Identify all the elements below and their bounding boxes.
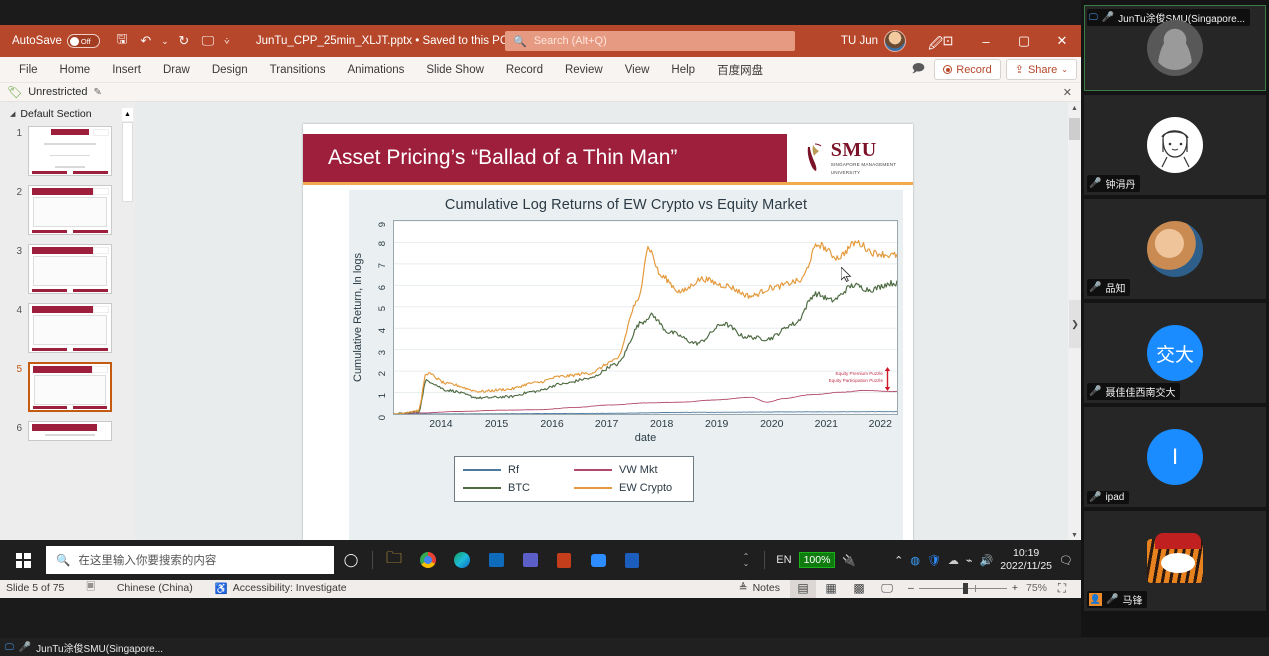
windows-security-icon[interactable]: 🛡 [927,554,941,567]
xtick-2020: 2020 [760,418,783,430]
windows-taskbar: 🔍 在这里输入你要搜索的内容 ◯ 🗀 [0,540,1081,580]
avatar [1147,221,1203,277]
share-caret-icon: ⌄ [1061,65,1068,74]
avatar: I [1147,429,1203,485]
zoom-level[interactable]: 75% [1026,582,1047,594]
legend-label-btc: BTC [508,482,530,494]
ytick-3: 3 [378,350,388,355]
list-item[interactable]: 1 [0,126,135,176]
redo-icon[interactable]: ↻ [172,29,196,53]
slide-accent-bar [303,182,913,185]
microphone-icon: 🎤 [1106,594,1118,605]
microphone-icon: 🎤 [1102,12,1114,23]
thumb-number: 5 [9,362,22,375]
qat-more-icon[interactable]: ⩒ [220,29,234,53]
chart-plot-area: Equity Premium Puzzle Equity Participati… [393,220,898,415]
tab-help[interactable]: Help [660,57,706,83]
thumb-number: 6 [9,421,22,434]
antivirus-icon[interactable]: ◍ [910,554,920,567]
accessibility-status[interactable]: ♿ Accessibility: Investigate [215,582,347,595]
volume-icon[interactable]: 🔊 [980,554,994,567]
comment-icon[interactable]: 🗩 [907,59,929,80]
record-dot-icon [943,65,952,74]
doodle-face-icon [1149,119,1201,171]
xtick-2017: 2017 [595,418,618,430]
quick-access-toolbar: 🖫 ↶ ⌄ ↻ 🖵 ⩒ [110,29,234,53]
participant-name-row: 🎤 聂佳佳西南交大 [1087,383,1180,400]
slide-thumbnail-panel: ◢ Default Section 1 [0,102,135,577]
slide-thumbnail-1[interactable] [28,126,112,176]
present-icon[interactable]: 🖵 [196,29,220,53]
taskbar-search-placeholder: 在这里输入你要搜索的内容 [78,552,216,568]
xtick-2022: 2022 [869,418,892,430]
thumb-number: 3 [9,244,22,257]
legend-swatch-btc [463,487,501,489]
sensitivity-bar: 🏷 Unrestricted ✎ ✕ [0,83,1081,102]
zoom-tick [975,585,976,592]
system-tray: ⌃⌄ EN 100% 🔌 ⌃ ◍ 🛡 ☁ ⌁ 🔊 10:19 2022/11/2… [743,547,1081,573]
smu-sub-line2: UNIVERSITY [831,170,897,176]
thumbnail-list: 1 2 [0,126,135,441]
microphone-muted-icon: 🎤 [1089,178,1101,189]
ribbon-display-options-icon[interactable]: ⊡ [929,25,967,57]
tab-transitions[interactable]: Transitions [259,57,337,83]
accessibility-icon: ♿ [215,582,228,595]
spellcheck-icon[interactable]: 🗏 [86,579,94,597]
chart-yticks: 0 1 2 3 4 5 6 7 8 9 [367,220,391,415]
share-icon: ⇪ [1015,63,1024,76]
undo-dropdown-icon[interactable]: ⌄ [158,29,172,53]
participant-name-row: 🎤 钟涓丹 [1087,175,1140,192]
thumb-number: 1 [9,126,22,139]
video-tile-participant[interactable]: 交大 🎤 聂佳佳西南交大 [1084,303,1266,403]
tab-baidu-netdisk[interactable]: 百度网盘 [706,57,774,83]
fit-slide-icon[interactable]: ⛶ [1049,579,1075,598]
tab-file[interactable]: File [8,57,49,83]
participant-name: ipad [1105,492,1124,503]
wifi-icon[interactable]: ⌁ [966,554,973,567]
battery-indicator[interactable]: 100% [799,552,836,568]
power-plug-icon[interactable]: 🔌 [842,554,856,567]
close-button[interactable]: ✕ [1043,25,1081,57]
clock-date: 2022/11/25 [1000,560,1052,573]
cortana-circle-icon[interactable]: ◯ [334,540,368,580]
ytick-9: 9 [378,222,388,227]
annotation-line1: Equity Premium Puzzle [829,371,883,378]
onedrive-icon[interactable]: ☁ [948,554,959,567]
zoom-thumb[interactable] [963,583,968,594]
participant-name: 品知 [1105,280,1125,295]
collapse-video-panel-button[interactable]: ❯ [1069,300,1081,348]
windows-start-icon[interactable] [0,540,46,580]
legend-item-ewcrypto: EW Crypto [574,482,685,494]
search-icon: 🔍 [513,35,527,48]
legend-swatch-ewcrypto [574,487,612,489]
slide-editor[interactable]: Asset Pricing’s “Ballad of a Thin Man” [303,124,913,554]
slide-thumbnail-5-selected[interactable] [28,362,112,412]
close-icon[interactable]: ✕ [1063,86,1072,99]
legend-swatch-rf [463,469,501,471]
scroll-down-icon[interactable]: ▼ [1068,532,1081,539]
host-badge-icon: 👤 [1089,593,1102,606]
scroll-up-icon[interactable]: ▲ [1068,105,1081,112]
list-item[interactable]: 5 [0,362,135,412]
section-header[interactable]: ◢ Default Section [0,108,135,120]
ytick-5: 5 [378,306,388,311]
os-bar-label[interactable]: JunTu涂俊SMU(Singapore... [36,640,163,655]
smu-wordmark: SMU SINGAPORE MANAGEMENT UNIVERSITY [831,140,897,176]
xtick-2021: 2021 [815,418,838,430]
chart-series-ew-crypto [394,240,897,414]
chart-figure[interactable]: Cumulative Log Returns of EW Crypto vs E… [349,190,903,548]
ytick-8: 8 [378,241,388,246]
sensitivity-label[interactable]: Unrestricted [28,86,87,98]
edge-icon[interactable] [445,540,479,580]
legend-label-vwmkt: VW Mkt [619,464,658,476]
tab-design[interactable]: Design [201,57,259,83]
slide-counter[interactable]: Slide 5 of 75 [6,582,64,594]
zoom-out-button[interactable]: – [908,582,914,594]
share-button-label: Share [1028,64,1057,76]
record-button[interactable]: Record [934,59,1000,80]
chart-xticks: 2014 2015 2016 2017 2018 2019 2020 2021 … [393,418,898,432]
search-input[interactable]: 🔍 Search (Alt+Q) [505,31,795,51]
annotation-line2: Equity Participation Puzzle [829,378,883,385]
autosave-toggle[interactable]: AutoSave Off [12,34,100,48]
minimize-button[interactable]: – [967,25,1005,57]
legend-item-vwmkt: VW Mkt [574,464,685,476]
avatar-initials: I [1172,444,1178,470]
scroll-thumb[interactable] [1069,118,1080,140]
status-right: ≜ Notes ▤ ▦ ▩ 🖵 – + 75% ⛶ [739,579,1075,598]
autosave-state: Off [81,37,91,46]
slide-sorter-icon[interactable]: ▦ [818,579,844,598]
search-placeholder: Search (Alt+Q) [534,35,607,47]
thumb-number: 4 [9,303,22,316]
thumb-number: 2 [9,185,22,198]
taskbar-search-input[interactable]: 🔍 在这里输入你要搜索的内容 [46,546,334,574]
list-item[interactable]: 4 [0,303,135,353]
participant-name-row: 🎤 ipad [1087,491,1129,504]
maximize-button[interactable]: ▢ [1005,25,1043,57]
smu-logo: SMU SINGAPORE MANAGEMENT UNIVERSITY [787,134,913,182]
os-bottom-bar: 🖵 🎤 JunTu涂俊SMU(Singapore... [0,638,1269,656]
chart-title: Cumulative Log Returns of EW Crypto vs E… [349,190,903,213]
tab-review[interactable]: Review [554,57,614,83]
section-collapse-icon[interactable]: ◢ [10,110,15,118]
window-controls: ⊡ – ▢ ✕ [929,25,1081,57]
accessibility-label: Accessibility: Investigate [233,582,347,594]
notes-icon: ≜ [739,582,748,594]
share-button[interactable]: ⇪ Share ⌄ [1006,59,1077,80]
spinner-arrows-icon[interactable]: ⌃⌄ [743,553,750,567]
participant-name: 马锋 [1122,592,1142,607]
record-button-label: Record [956,64,991,76]
teams-icon[interactable] [513,540,547,580]
avatar: 交大 [1147,325,1203,381]
section-label: Default Section [20,108,91,120]
microphone-muted-icon: 🎤 [1089,386,1101,397]
legend-item-btc: BTC [463,482,574,494]
video-participants-panel: 🖵 🎤 JunTu涂俊SMU(Singapore... 🎤 钟涓丹 [1081,0,1269,637]
tag-icon: 🏷 [7,85,22,99]
chart-annotation: Equity Premium Puzzle Equity Participati… [829,371,883,384]
zoom-icon[interactable] [581,540,615,580]
avatar-initials: 交大 [1156,340,1194,367]
ytick-4: 4 [378,328,388,333]
slide-thumbnail-2[interactable] [28,185,112,235]
chart-xlabel: date [393,432,898,444]
video-tile-participant[interactable]: 🎤 钟涓丹 [1084,95,1266,195]
slide-thumbnail-6[interactable] [28,421,112,441]
annotation-double-arrow-icon [884,367,891,391]
video-tile-self[interactable]: 🖵 🎤 JunTu涂俊SMU(Singapore... [1084,5,1266,91]
xtick-2014: 2014 [429,418,452,430]
tab-draw[interactable]: Draw [152,57,201,83]
autosave-knob [70,37,79,46]
participant-name: 钟涓丹 [1105,176,1135,191]
normal-view-icon[interactable]: ▤ [790,579,816,598]
file-explorer-icon[interactable]: 🗀 [377,540,411,580]
chart-series-svg [394,221,897,414]
ytick-0: 0 [378,415,388,420]
xtick-2019: 2019 [705,418,728,430]
list-item[interactable]: 2 [0,185,135,235]
legend-label-rf: Rf [508,464,519,476]
slide-thumbnail-3[interactable] [28,244,112,294]
ribbon-tabs: File Home Insert Draw Design Transitions… [0,57,1081,83]
clock-time: 10:19 [1000,547,1052,560]
ytick-6: 6 [378,285,388,290]
powerpoint-window: AutoSave Off 🖫 ↶ ⌄ ↻ 🖵 ⩒ JunTu_CPP_25min… [0,25,1081,598]
notes-label: Notes [753,582,780,594]
tab-home[interactable]: Home [49,57,102,83]
video-tile-participant[interactable]: 👤 🎤 马锋 [1084,511,1266,611]
notification-icon[interactable]: 🗨 [1059,554,1073,567]
taskbar-divider [372,551,373,569]
show-hidden-icons-icon[interactable]: ⌃ [894,554,903,567]
zoom-slider[interactable]: – + [908,582,1018,594]
outlook-icon[interactable] [479,540,513,580]
legend-item-rf: Rf [463,464,574,476]
save-icon[interactable]: 🖫 [110,29,134,53]
ytick-1: 1 [378,393,388,398]
avatar [1147,533,1203,589]
account-area[interactable]: TU Jun [841,25,906,57]
work-area: ◢ Default Section 1 [0,102,1081,577]
video-tile-participant[interactable]: 🎤 品知 [1084,199,1266,299]
slideshow-icon[interactable]: 🖵 [874,579,900,598]
tab-insert[interactable]: Insert [101,57,152,83]
chart-ylabel: Cumulative Return, ln logs [351,220,365,415]
slide-thumbnail-4[interactable] [28,303,112,353]
video-tile-participant[interactable]: I 🎤 ipad [1084,407,1266,507]
tab-record[interactable]: Record [495,57,554,83]
reading-view-icon[interactable]: ▩ [846,579,872,598]
xtick-2016: 2016 [540,418,563,430]
pencil-icon[interactable]: ✎ [94,87,102,98]
notes-button[interactable]: ≜ Notes [739,582,780,594]
search-icon: 🔍 [56,553,70,567]
chart-legend: Rf VW Mkt BTC [454,456,694,502]
undo-icon[interactable]: ↶ [134,29,158,53]
screen-share-icon: 🖵 [1089,12,1098,23]
tiger-avatar-icon [1147,539,1203,583]
xtick-2015: 2015 [485,418,508,430]
slide-canvas-area: Asset Pricing’s “Ballad of a Thin Man” [135,102,1081,577]
participant-name: 聂佳佳西南交大 [1105,384,1175,399]
microphone-icon: 🎤 [19,642,31,653]
language-indicator[interactable]: Chinese (China) [117,582,193,594]
status-bar: Slide 5 of 75 🗏 Chinese (China) ♿ Access… [0,577,1081,598]
legend-label-ewcrypto: EW Crypto [619,482,672,494]
list-item[interactable]: 3 [0,244,135,294]
mouse-cursor [841,267,852,282]
word-icon[interactable] [615,540,649,580]
zoom-in-button[interactable]: + [1012,582,1018,594]
avatar [1147,20,1203,76]
chart-series-vw-mkt [394,390,897,414]
user-name: TU Jun [841,35,878,47]
avatar [1147,117,1203,173]
participant-name-row: 🎤 品知 [1087,279,1130,296]
screen-share-icon: 🖵 [5,642,14,653]
ribbon-right-actions: 🗩 Record ⇪ Share ⌄ [907,59,1077,80]
powerpoint-icon[interactable] [547,540,581,580]
zoom-track[interactable] [919,588,1007,589]
title-bar: AutoSave Off 🖫 ↶ ⌄ ↻ 🖵 ⩒ JunTu_CPP_25min… [0,25,1081,57]
autosave-switch[interactable]: Off [67,34,100,48]
tab-view[interactable]: View [614,57,661,83]
microphone-muted-icon: 🎤 [1089,282,1101,293]
screen-root: AutoSave Off 🖫 ↶ ⌄ ↻ 🖵 ⩒ JunTu_CPP_25min… [0,0,1269,656]
smu-sub-line1: SINGAPORE MANAGEMENT [831,162,897,168]
ytick-7: 7 [378,263,388,268]
language-indicator-tray[interactable]: EN [776,554,791,566]
chrome-icon[interactable] [411,540,445,580]
ytick-2: 2 [378,371,388,376]
avatar[interactable] [884,30,906,52]
microphone-muted-icon: 🎤 [1089,492,1101,503]
page-title[interactable]: Asset Pricing’s “Ballad of a Thin Man” [303,146,677,170]
tab-animations[interactable]: Animations [336,57,415,83]
tray-divider [764,551,765,569]
xtick-2018: 2018 [650,418,673,430]
participant-name-row: 👤 🎤 马锋 [1087,591,1147,608]
legend-swatch-vwmkt [574,469,612,471]
smu-name: SMU [831,140,897,160]
panel-scrollbar[interactable] [122,122,133,202]
list-item[interactable]: 6 [0,421,135,441]
autosave-label: AutoSave [12,35,62,47]
clock[interactable]: 10:19 2022/11/25 [1000,547,1052,573]
document-title[interactable]: JunTu_CPP_25min_XLJT.pptx • Saved to thi… [256,35,508,47]
smu-emblem-icon [804,143,826,173]
tab-slide-show[interactable]: Slide Show [415,57,495,83]
panel-scroll-up-button[interactable]: ▲ [122,108,133,121]
